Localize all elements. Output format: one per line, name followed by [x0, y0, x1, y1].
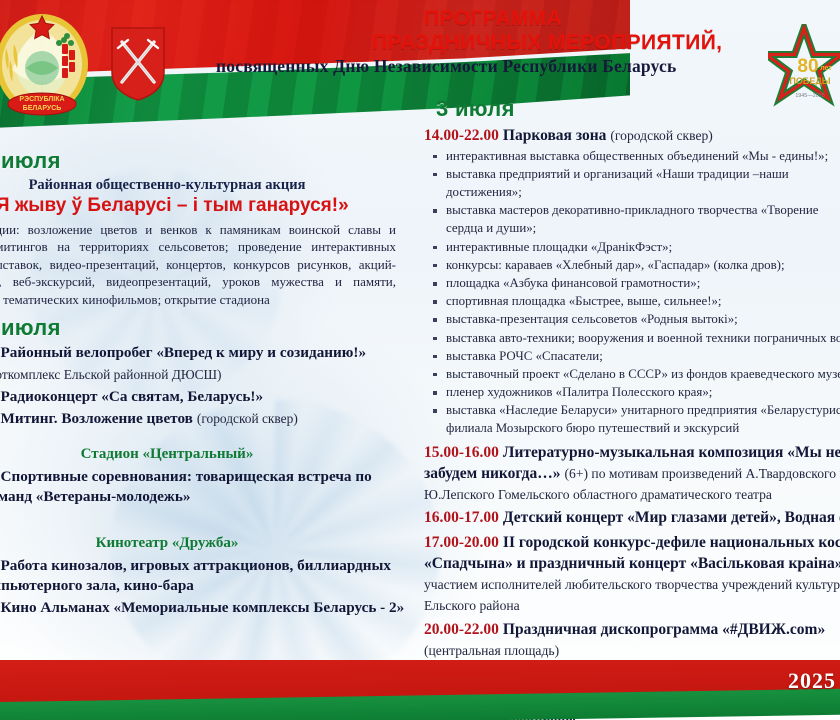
list-item: выставка мастеров декоративно-прикладног… [424, 202, 840, 220]
svg-text:БЕЛАРУСЬ: БЕЛАРУСЬ [23, 105, 62, 112]
list-item: пленер художников «Палитра Полесского кр… [424, 384, 840, 402]
event-title: Детский концерт «Мир глазами детей», Вод… [503, 509, 840, 526]
list-item-continuation: сердца и души»; [424, 220, 840, 238]
event-time: 20.00-22.00 [424, 621, 499, 638]
event-title: Районный велопробег «Вперед к миру и соз… [1, 344, 367, 361]
event-row: 10.00-12.00 Районный велопробег «Вперед … [0, 343, 412, 363]
poster-canvas: РЭСПУБЛІКА БЕЛАРУСЬ 80 лет ПОБЕДЫ 1945—2… [0, 0, 840, 720]
left-day1-action-title: «Я жыву ў Беларусі – і тым ганаруся!» [0, 195, 412, 218]
event-title: Кино Альманах «Мемориальные комплексы Бе… [1, 599, 405, 616]
venue-title-cinema: Кинотеатр «Дружба» [0, 535, 412, 552]
event-row: 12.00-14.00 Радиоконцерт «Са святам, Бел… [0, 387, 412, 407]
event-block: 15.00-16.00 Литературно-музыкальная комп… [424, 443, 840, 505]
svg-text:РЭСПУБЛІКА: РЭСПУБЛІКА [19, 96, 64, 103]
event-title: Работа кинозалов, игровых аттракционов, … [0, 557, 391, 594]
list-item: площадка «Азбука финансовой грамотности»… [424, 275, 840, 293]
park-zone-title: Парковая зона [503, 127, 606, 144]
event-time: 17.00-20.00 [424, 534, 499, 551]
event-title: Митинг. Возложение цветов [1, 410, 193, 427]
svg-text:ПОБЕДЫ: ПОБЕДЫ [789, 76, 830, 86]
list-item: спортивная площадка «Быстрее, выше, силь… [424, 293, 840, 311]
event-block: 20.00-22.00 Праздничная дископрограмма «… [424, 620, 840, 662]
header-line-2: ПРАЗДНИЧНЫХ МЕРОПРИЯТИЙ, [0, 31, 840, 55]
event-note: (центральная площадь) [424, 643, 559, 658]
left-column: 2 июля Районная общественно-культурная а… [0, 148, 412, 619]
event-row: 14.00-14.30 Митинг. Возложение цветов (г… [0, 409, 412, 429]
list-item: выставка-презентация сельсоветов «Родныя… [424, 311, 840, 329]
left-day1-action-subtitle: Районная общественно-культурная акция [0, 176, 412, 194]
left-day1-description: в рамках акции: возложение цветов и венк… [0, 221, 396, 308]
header-line-1: ПРОГРАММА [0, 8, 840, 31]
list-item: выставка предприятий и организаций «Наши… [424, 166, 840, 184]
event-note-row: (стадион спорткомплекс Ельской районной … [0, 365, 412, 385]
event-time: 16.00-17.00 [424, 509, 499, 526]
list-item-continuation: филиала Мозырского бюро путешествий и эк… [424, 420, 840, 438]
list-item-continuation: достижения»; [424, 184, 840, 202]
event-title: Радиоконцерт «Са святам, Беларусь!» [1, 388, 264, 405]
list-item: выставочный проект «Сделано в СССР» из ф… [424, 366, 840, 384]
right-column: 3 июля 14.00-22.00 Парковая зона (городс… [424, 96, 840, 720]
event-note: (стадион спорткомплекс Ельской районной … [0, 367, 222, 382]
event-block: 17.00-20.00 II городской конкурс-дефиле … [424, 533, 840, 616]
header-line-3: посвященных Дню Независимости Республики… [0, 56, 840, 77]
park-zone-heading: 14.00-22.00 Парковая зона (городской скв… [424, 126, 840, 147]
venue-title-stadium: Стадион «Центральный» [0, 446, 412, 463]
event-row: 17.00-19.00 Спортивные соревнования: тов… [0, 467, 412, 507]
list-item: выставка авто-техники; вооружения и воен… [424, 330, 840, 348]
event-row: 10.00-24.00 Работа кинозалов, игровых ат… [0, 556, 412, 596]
list-item: выставка «Наследие Беларуси» унитарного … [424, 402, 840, 420]
event-title: Праздничная дископрограмма «#ДВИЖ.com» [503, 621, 825, 638]
footer-year: 2025 [788, 668, 836, 694]
left-day2-title: 3 июля [0, 315, 412, 341]
list-item: интерактивные площадки «ДранікФэст»; [424, 239, 840, 257]
list-item: выставка РОЧС «Спасатели; [424, 348, 840, 366]
park-zone-item-list: интерактивная выставка общественных объе… [424, 148, 840, 438]
list-item: интерактивная выставка общественных объе… [424, 148, 840, 166]
park-zone-time: 14.00-22.00 [424, 127, 499, 144]
poster-header: ПРОГРАММА ПРАЗДНИЧНЫХ МЕРОПРИЯТИЙ, посвя… [0, 8, 840, 77]
event-block: 16.00-17.00 Детский концерт «Мир глазами… [424, 508, 840, 529]
bottom-ribbon: 2025 [0, 660, 840, 720]
left-day1-title: 2 июля [0, 148, 412, 174]
event-time: 15.00-16.00 [424, 444, 499, 461]
list-item: конкурсы: караваев «Хлебный дар», «Гаспа… [424, 257, 840, 275]
event-title: Спортивные соревнования: товарищеская вс… [0, 468, 372, 505]
right-day-title: 3 июля [436, 96, 840, 122]
park-zone-note: (городской сквер) [610, 128, 712, 143]
left-day2-event-list: 10.00-12.00 Районный велопробег «Вперед … [0, 343, 412, 430]
event-row: 21.00-22.00 Кино Альманах «Мемориальные … [0, 598, 412, 618]
event-note: (городской сквер) [197, 411, 298, 426]
